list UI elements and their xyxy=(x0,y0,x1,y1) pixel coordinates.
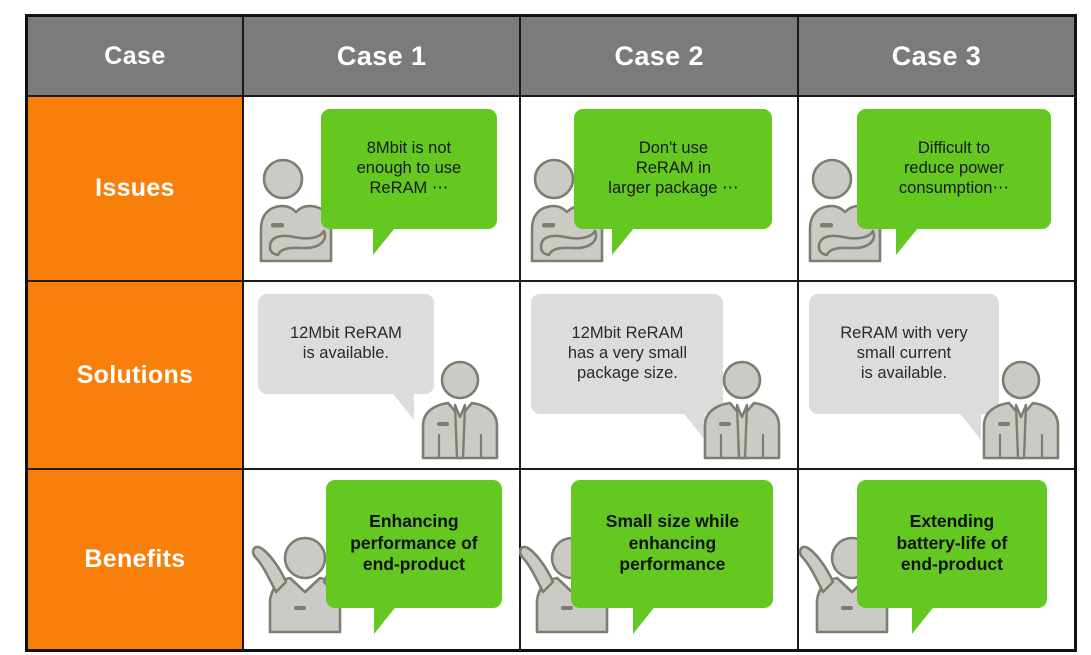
cell-solutions-case-1: 12Mbit ReRAM is available. xyxy=(243,281,521,469)
case-comparison-table: Case Case 1 Case 2 Case 3 Issues xyxy=(25,14,1077,652)
speech-bubble-benefit-3: Extending battery-life of end-product xyxy=(857,480,1047,608)
row-label-benefits-text: Benefits xyxy=(28,547,242,572)
bubble-tail-icon xyxy=(612,228,634,255)
reram-case-matrix-figure: Case Case 1 Case 2 Case 3 Issues xyxy=(0,0,1091,655)
header-cell-case-3: Case 3 xyxy=(798,16,1076,97)
header-label-case: Case xyxy=(28,44,242,69)
row-label-issues: Issues xyxy=(27,96,243,281)
header-label-case-3: Case 3 xyxy=(799,43,1074,70)
row-label-issues-text: Issues xyxy=(28,176,242,201)
bubble-tail-icon xyxy=(373,228,395,255)
speech-bubble-issue-2: Don't use ReRAM in larger package ⋯ xyxy=(574,109,772,229)
speech-bubble-issue-1: 8Mbit is not enough to use ReRAM ⋯ xyxy=(321,109,497,229)
table-row-issues: Issues 8Mbit is not enough to use ReRAM … xyxy=(27,96,1076,281)
header-cell-case: Case xyxy=(27,16,243,97)
cell-issues-case-3: Difficult to reduce power consumption⋯ xyxy=(798,96,1076,281)
bubble-tail-icon xyxy=(896,228,918,255)
row-label-solutions-text: Solutions xyxy=(28,363,242,388)
bubble-tail-icon xyxy=(912,604,936,634)
header-label-case-2: Case 2 xyxy=(521,43,797,70)
bubble-tail-icon xyxy=(390,390,414,420)
speech-bubble-solution-3-text: ReRAM with very small current is availab… xyxy=(840,324,967,382)
businessman-icon xyxy=(417,360,503,460)
speech-bubble-issue-1-text: 8Mbit is not enough to use ReRAM ⋯ xyxy=(357,139,462,197)
speech-bubble-issue-3: Difficult to reduce power consumption⋯ xyxy=(857,109,1051,229)
bubble-tail-icon xyxy=(374,604,398,634)
speech-bubble-solution-2: 12Mbit ReRAM has a very small package si… xyxy=(531,294,723,414)
businessman-icon xyxy=(978,360,1064,460)
speech-bubble-benefit-2: Small size while enhancing performance xyxy=(571,480,773,608)
cell-issues-case-1: 8Mbit is not enough to use ReRAM ⋯ xyxy=(243,96,521,281)
speech-bubble-issue-3-text: Difficult to reduce power consumption⋯ xyxy=(899,139,1009,197)
header-label-case-1: Case 1 xyxy=(244,43,520,70)
cell-benefits-case-1: Enhancing performance of end-product xyxy=(243,469,521,651)
header-cell-case-1: Case 1 xyxy=(243,16,521,97)
speech-bubble-issue-2-text: Don't use ReRAM in larger package ⋯ xyxy=(608,139,738,197)
cell-solutions-case-3: ReRAM with very small current is availab… xyxy=(798,281,1076,469)
cell-benefits-case-2: Small size while enhancing performance xyxy=(520,469,798,651)
table-row-benefits: Benefits Enhancing performance of end-pr… xyxy=(27,469,1076,651)
bubble-tail-icon xyxy=(633,604,657,634)
speech-bubble-solution-1-text: 12Mbit ReRAM is available. xyxy=(290,324,402,362)
speech-bubble-benefit-2-text: Small size while enhancing performance xyxy=(606,511,739,574)
speech-bubble-solution-2-text: 12Mbit ReRAM has a very small package si… xyxy=(568,324,687,382)
businessman-icon xyxy=(699,360,785,460)
cell-benefits-case-3: Extending battery-life of end-product xyxy=(798,469,1076,651)
speech-bubble-benefit-3-text: Extending battery-life of end-product xyxy=(897,511,1008,574)
cell-issues-case-2: Don't use ReRAM in larger package ⋯ xyxy=(520,96,798,281)
speech-bubble-solution-3: ReRAM with very small current is availab… xyxy=(809,294,999,414)
header-cell-case-2: Case 2 xyxy=(520,16,798,97)
speech-bubble-solution-1: 12Mbit ReRAM is available. xyxy=(258,294,434,394)
table-row-solutions: Solutions 12Mbit ReRAM is available. xyxy=(27,281,1076,469)
row-label-solutions: Solutions xyxy=(27,281,243,469)
speech-bubble-benefit-1: Enhancing performance of end-product xyxy=(326,480,502,608)
cell-solutions-case-2: 12Mbit ReRAM has a very small package si… xyxy=(520,281,798,469)
row-label-benefits: Benefits xyxy=(27,469,243,651)
table-header-row: Case Case 1 Case 2 Case 3 xyxy=(27,16,1076,97)
speech-bubble-benefit-1-text: Enhancing performance of end-product xyxy=(350,511,477,574)
